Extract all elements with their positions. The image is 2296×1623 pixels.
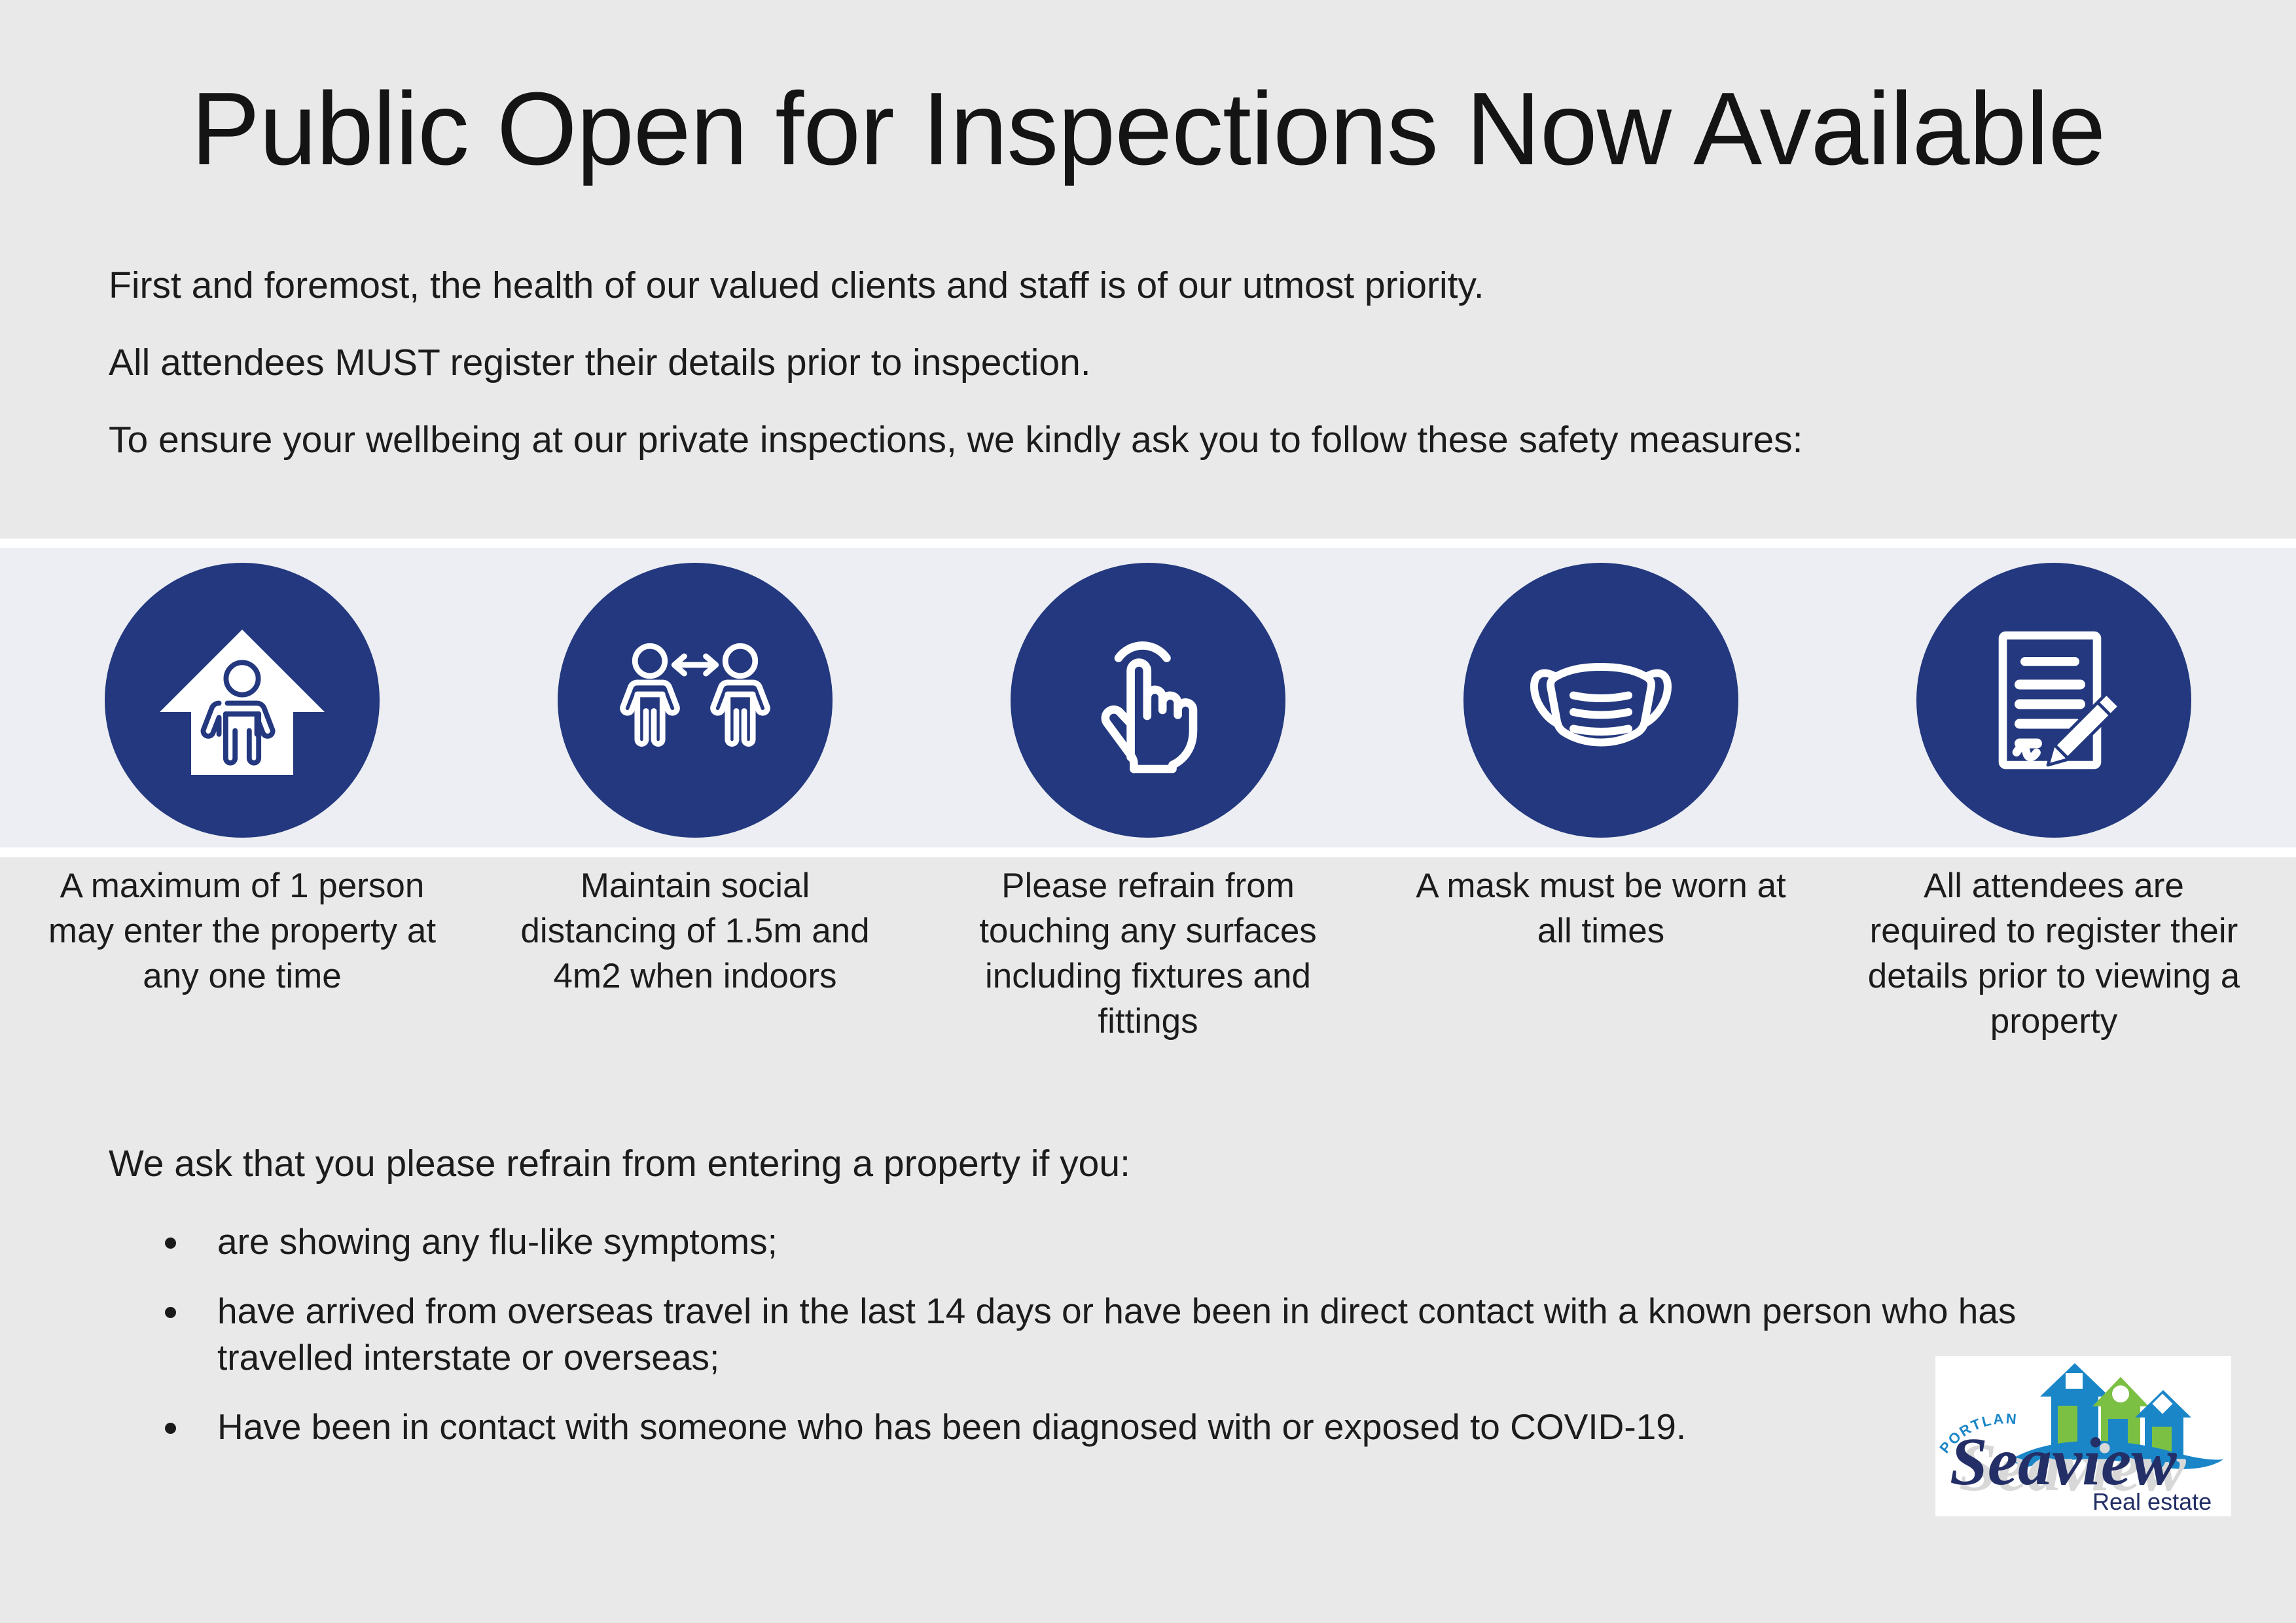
measure-caption-2: Maintain social distancing of 1.5m and 4… (499, 864, 891, 1044)
bullet-dot-icon (165, 1423, 176, 1434)
measures-icon-row (0, 563, 2296, 838)
measure-caption-4: A mask must be worn at all times (1405, 864, 1797, 1044)
measures-caption-row: A maximum of 1 person may enter the prop… (0, 864, 2296, 1044)
register-document-pencil-icon (1916, 563, 2191, 838)
intro-line-2: All attendees MUST register their detail… (109, 344, 2138, 382)
bullet-dot-icon (165, 1238, 176, 1249)
measure-caption-1: A maximum of 1 person may enter the prop… (46, 864, 439, 1044)
no-touching-hand-icon (1011, 563, 1285, 838)
refrain-item-2: have arrived from overseas travel in the… (217, 1288, 2079, 1382)
logo-tagline-text: Real estate (2092, 1488, 2212, 1515)
band-divider-top (0, 539, 2296, 548)
intro-line-3: To ensure your wellbeing at our private … (109, 421, 2138, 459)
refrain-item-1: are showing any flu-like symptoms; (217, 1219, 2079, 1266)
band-divider-bottom (0, 847, 2296, 857)
seaview-real-estate-logo: PORTLAND Seaview Seaview Real estate (1935, 1356, 2231, 1516)
face-mask-icon (1463, 563, 1738, 838)
refrain-list: are showing any flu-like symptoms; have … (109, 1219, 2079, 1472)
poster-root: Public Open for Inspections Now Availabl… (0, 0, 2296, 1623)
intro-line-1: First and foremost, the health of our va… (109, 267, 2138, 304)
refrain-heading: We ask that you please refrain from ente… (109, 1145, 1130, 1183)
house-with-person-icon (105, 563, 380, 838)
measure-caption-3: Please refrain from touching any surface… (952, 864, 1344, 1044)
refrain-item-3: Have been in contact with someone who ha… (217, 1404, 2079, 1451)
list-item: Have been in contact with someone who ha… (109, 1404, 2079, 1451)
list-item: have arrived from overseas travel in the… (109, 1288, 2079, 1382)
bullet-dot-icon (165, 1307, 176, 1318)
measure-caption-5: All attendees are required to register t… (1857, 864, 2250, 1044)
intro-block: First and foremost, the health of our va… (109, 267, 2138, 499)
social-distancing-icon (558, 563, 833, 838)
list-item: are showing any flu-like symptoms; (109, 1219, 2079, 1266)
page-title: Public Open for Inspections Now Availabl… (0, 77, 2296, 181)
